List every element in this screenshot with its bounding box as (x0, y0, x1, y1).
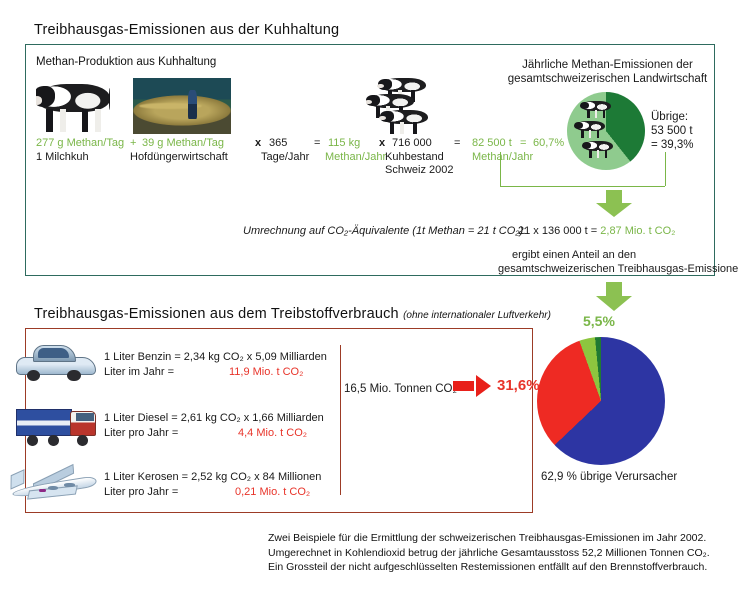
emissions-pie-chart (537, 337, 665, 465)
cow-leg (413, 122, 417, 134)
formula-term2-label: Hofdüngerwirtschaft (130, 150, 228, 164)
formula-plus: + (130, 136, 136, 150)
panel1-subtitle: Methan-Produktion aus Kuhhaltung (36, 56, 216, 68)
plane-engine (64, 483, 75, 487)
pie-leader-line-h (500, 186, 665, 187)
truck-wheel (48, 435, 59, 446)
arrow-head (476, 375, 491, 397)
methane-pie-title-line1: Jährliche Methan-Emissionen der (500, 58, 715, 72)
arrow-stem (453, 381, 474, 392)
footnote-text: Zwei Beispiele für die Ermittlung der sc… (268, 531, 718, 575)
cow-leg (390, 122, 394, 134)
car-window (38, 348, 69, 358)
fuel-row-line2: Liter pro Jahr = (104, 426, 178, 440)
formula-term4-value: 115 kg (328, 136, 360, 150)
formula-term3-value: 365 (269, 136, 287, 150)
cow-photo (36, 84, 110, 132)
truck-wheel (77, 435, 88, 446)
fuel-row-result: 0,21 Mio. t CO₂ (235, 485, 310, 499)
formula-result-equals: = (520, 136, 526, 150)
methane-pie-label-line3: = 39,3% (651, 138, 694, 152)
farmer-figure (188, 90, 197, 119)
truck-trailer (16, 409, 72, 436)
methane-formula: 277 g Methan/Tag 1 Milchkuh + 39 g Metha… (36, 136, 556, 176)
cow-photo (581, 101, 611, 118)
fuel-row-diesel: 1 Liter Diesel = 2,61 kg CO₂ x 1,66 Mill… (104, 411, 324, 440)
methane-pie-title-line2: gesamtschweizerischen Landwirtschaft (500, 72, 715, 86)
fuel-row-result: 11,9 Mio. t CO₂ (229, 365, 303, 379)
cow-leg (46, 109, 52, 132)
formula-term1-label: 1 Milchkuh (36, 150, 89, 164)
co2-calc-result: 2,87 Mio. t CO₂ (600, 225, 675, 237)
formula-term5-label: Kuhbestand (385, 150, 444, 164)
cow-photo (583, 141, 613, 158)
formula-mult1: x (255, 136, 261, 150)
fuel-row-benzin: 1 Liter Benzin = 2,34 kg CO₂ x 5,09 Mill… (104, 350, 327, 379)
cow-head (574, 122, 583, 129)
methane-pie-label-line1: Übrige: (651, 110, 694, 124)
formula-equals1: = (314, 136, 320, 150)
emissions-pie-caption: 62,9 % übrige Verursacher (541, 470, 677, 484)
plane-icon (8, 463, 98, 507)
formula-result-value: 82 500 t (472, 136, 512, 150)
formula-equals2: = (454, 136, 460, 150)
pie-leader-line (500, 152, 501, 186)
cow-head (582, 142, 591, 149)
methane-pie-label-line2: 53 500 t (651, 124, 694, 138)
cow-leg (597, 130, 600, 138)
formula-term2-value: 39 g Methan/Tag (142, 136, 224, 150)
car-wheel (67, 370, 80, 381)
fuel-share-percent: 31,6% (497, 377, 540, 394)
fuel-brace-line (340, 345, 341, 495)
formula-result-pct: 60,7% (533, 136, 564, 150)
co2-conversion-note: Umrechnung auf CO₂-Äquivalente (1t Metha… (243, 224, 526, 238)
cow-leg (597, 150, 600, 158)
methane-pie-title: Jährliche Methan-Emissionen der gesamtsc… (500, 58, 715, 86)
truck-wheel (27, 435, 38, 446)
arrow-head (596, 296, 632, 311)
car-icon (16, 342, 94, 382)
methane-pie-label: Übrige: 53 500 t = 39,3% (651, 110, 694, 152)
plane-livery-mark (39, 489, 46, 492)
co2-share-text: ergibt einen Anteil an den gesamtschweiz… (512, 248, 738, 276)
panel2-title: Treibhausgas-Emissionen aus dem Treibsto… (34, 306, 551, 322)
cow-photo (575, 121, 605, 138)
formula-term5-value: 716 000 (392, 136, 432, 150)
plane-tail (10, 469, 24, 490)
fuel-row-result: 4,4 Mio. t CO₂ (238, 426, 307, 440)
pie-leader-line-v2 (665, 152, 666, 186)
plane-engine (48, 486, 59, 490)
truck-window (76, 413, 94, 421)
cow-share-percent: 5,5% (583, 314, 615, 328)
truck-icon (16, 405, 96, 447)
panel2-title-note: (ohne internationaler Luftverkehr) (403, 310, 551, 321)
cow-leg (605, 150, 608, 158)
formula-term5-label2: Schweiz 2002 (385, 163, 454, 177)
co2-calc-plain: 21 x 136 000 t = (518, 225, 600, 237)
cow-snout (36, 96, 42, 104)
fuel-row-line1: 1 Liter Benzin = 2,34 kg CO₂ x 5,09 Mill… (104, 350, 327, 364)
fuel-row-line1: 1 Liter Kerosen = 2,52 kg CO₂ x 84 Milli… (104, 470, 321, 484)
formula-result-label: Methan/Jahr (472, 150, 533, 164)
co2-conversion-calc: 21 x 136 000 t = 2,87 Mio. t CO₂ (518, 224, 675, 238)
co2-share-line2: gesamtschweizerischen Treibhausgas-Emiss… (498, 262, 738, 276)
cow-leg (95, 109, 101, 132)
car-wheel (27, 370, 40, 381)
panel1-title-text: Treibhausgas-Emissionen aus der Kuhhaltu… (34, 22, 339, 38)
share-arrow-icon (596, 282, 632, 312)
cow-leg (589, 130, 592, 138)
arrow-stem (606, 282, 622, 298)
cow-tail (109, 88, 110, 110)
cow-leg (581, 130, 584, 138)
arrow-head (596, 203, 632, 217)
cow-photo (382, 110, 428, 134)
formula-mult2: x (379, 136, 385, 150)
cow-leg (60, 109, 66, 132)
formula-term1-value: 277 g Methan/Tag (36, 136, 124, 150)
cow-leg (587, 110, 590, 118)
manure-photo (133, 78, 231, 134)
fuel-row-line2: Liter pro Jahr = (104, 485, 178, 499)
panel2-title-text: Treibhausgas-Emissionen aus dem Treibsto… (34, 306, 399, 322)
fuel-row-kerosen: 1 Liter Kerosen = 2,52 kg CO₂ x 84 Milli… (104, 470, 321, 499)
fuel-row-line2: Liter im Jahr = (104, 365, 174, 379)
co2-share-line1: ergibt einen Anteil an den (512, 248, 738, 262)
arrow-stem (606, 190, 622, 205)
fuel-total-arrow-icon (453, 375, 491, 397)
cow-leg (589, 150, 592, 158)
cow-leg (603, 110, 606, 118)
cow-head (580, 102, 589, 109)
cow-leg (595, 110, 598, 118)
panel1-title: Treibhausgas-Emissionen aus der Kuhhaltu… (34, 22, 339, 38)
methane-pie-chart (567, 92, 645, 170)
fuel-row-line1: 1 Liter Diesel = 2,61 kg CO₂ x 1,66 Mill… (104, 411, 324, 425)
cow-leg (82, 109, 88, 132)
fuel-total-label: 16,5 Mio. Tonnen CO₂ = (344, 382, 467, 396)
methane-to-co2-arrow-icon (596, 190, 632, 218)
formula-term4-label: Methan/Jahr (325, 150, 386, 164)
three-cows-photo (366, 78, 442, 134)
cow-leg (400, 122, 404, 134)
formula-term3-label: Tage/Jahr (261, 150, 309, 164)
